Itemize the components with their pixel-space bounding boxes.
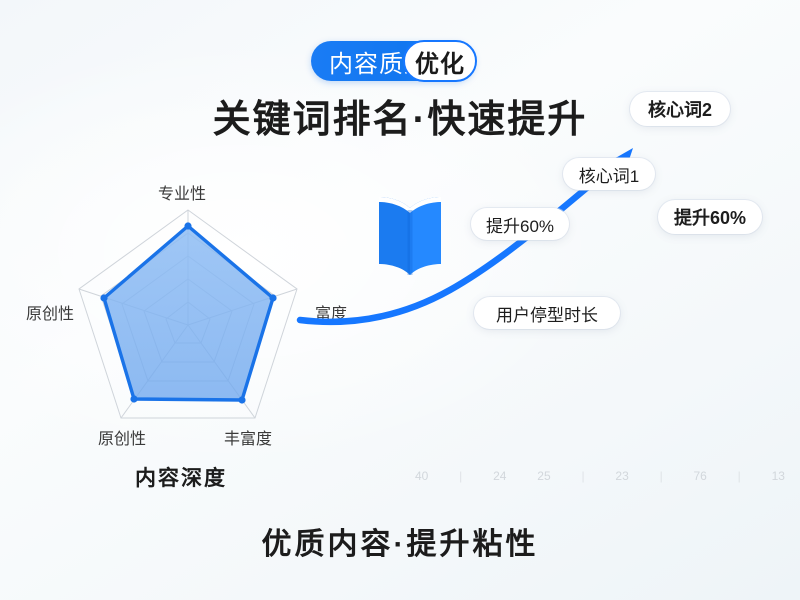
tick-value-3: 23: [615, 469, 628, 483]
tick-value-2: 25: [537, 469, 550, 483]
tick-mark-3: |: [738, 469, 741, 483]
content-quality-badge: 内容质量 优化: [311, 41, 475, 81]
callout-uplift-left[interactable]: 提升60%: [471, 208, 569, 240]
tick-mark-2: |: [660, 469, 663, 483]
tick-value-5: 13: [772, 469, 785, 483]
poster-canvas: 内容质量 优化 关键词排名·快速提升: [0, 0, 800, 600]
callout-uplift-right[interactable]: 提升60%: [658, 200, 762, 234]
radar-label-top: 专业性: [158, 180, 206, 204]
tick-value-0: 40: [415, 469, 428, 483]
tick-value-1: 24: [493, 469, 506, 483]
tick-value-4: 76: [694, 469, 707, 483]
callout-core-keyword-1[interactable]: 核心词1: [563, 158, 655, 190]
callout-dwell-time[interactable]: 用户停型时长: [474, 297, 620, 329]
faded-axis-tick-row: 40 | 24 25 | 23 | 76 | 13: [415, 465, 785, 487]
badge-tag: 优化: [403, 40, 477, 82]
page-tagline: 优质内容·提升粘性: [0, 519, 800, 563]
radar-label-bottom-right: 丰富度: [224, 425, 272, 449]
radar-caption: 内容深度: [135, 462, 227, 492]
tick-mark-0: |: [459, 469, 462, 483]
radar-label-left: 原创性: [26, 300, 74, 324]
book-icon: [371, 188, 449, 280]
callout-core-keyword-2[interactable]: 核心词2: [630, 92, 730, 126]
tick-mark-1: |: [581, 469, 584, 483]
radar-label-bottom-left: 原创性: [98, 425, 146, 449]
